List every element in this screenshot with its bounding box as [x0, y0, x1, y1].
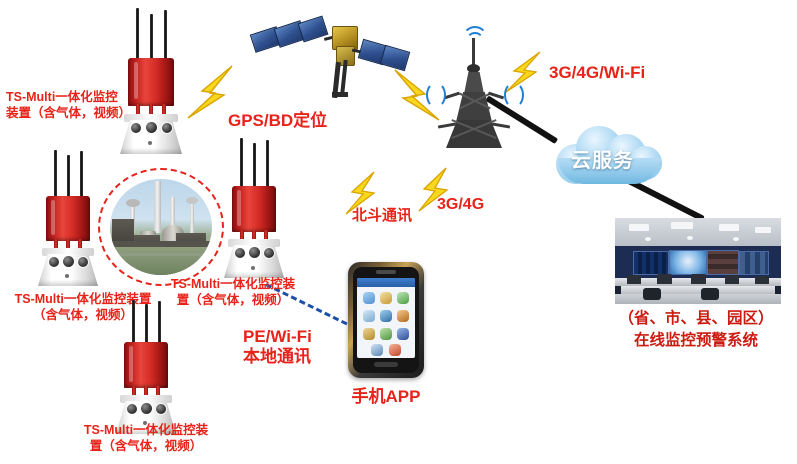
app-icon[interactable]	[380, 292, 392, 304]
sensor-port	[49, 257, 59, 267]
video-wall-screen	[669, 250, 707, 275]
monitoring-device-middle	[218, 138, 288, 284]
app-icon[interactable]	[363, 328, 375, 340]
handheld-pda	[348, 262, 424, 378]
sensor-port	[78, 257, 88, 267]
sensor-port	[63, 256, 74, 267]
cell-tower	[438, 20, 510, 150]
video-wall-screen	[707, 250, 739, 275]
sensor-port	[162, 123, 172, 133]
wifi-icon	[466, 32, 484, 50]
wifi-icon	[426, 82, 446, 108]
device-bottom-label: TS-Multi一体化监控装 置（含气体，视频）	[66, 423, 226, 454]
app-icon[interactable]	[397, 310, 409, 322]
cloud-label: 云服务	[571, 144, 634, 173]
app-icon[interactable]	[389, 344, 401, 356]
control-room	[615, 218, 781, 304]
sensor-port	[131, 123, 141, 133]
wifi-icon	[504, 82, 524, 108]
video-wall-screen	[633, 251, 669, 275]
sensor-port	[141, 403, 152, 414]
control-room-label: （省、市、县、园区） 在线监控预警系统	[596, 308, 796, 353]
beidou-label: 北斗通讯	[352, 207, 412, 226]
pda-screen[interactable]	[357, 278, 415, 358]
video-wall-screen	[739, 251, 769, 275]
pda-label: 手机APP	[336, 386, 436, 407]
sensor-port	[249, 247, 260, 258]
sensor-port	[146, 122, 157, 133]
industrial-plant-inset	[98, 168, 224, 286]
sensor-port	[264, 248, 274, 258]
app-icon[interactable]	[363, 292, 375, 304]
app-icon[interactable]	[363, 310, 375, 322]
local-comm-label: PE/Wi-Fi 本地通讯	[243, 327, 312, 368]
monitoring-device-top	[112, 8, 186, 158]
device-top-label: TS-Multi一体化监控 装置（含气体，视频）	[6, 90, 142, 121]
app-icon[interactable]	[380, 310, 392, 322]
sensor-port	[127, 404, 137, 414]
tower-label: 3G/4G/Wi-Fi	[549, 62, 645, 83]
sensor-port	[156, 404, 166, 414]
app-icon[interactable]	[380, 328, 392, 340]
app-icon[interactable]	[397, 328, 409, 340]
monitoring-device-left	[32, 150, 102, 290]
sensor-port	[235, 248, 245, 258]
diagram-canvas: TS-Multi一体化监控 装置（含气体，视频） TS-Multi一体化监控装置…	[0, 0, 797, 464]
monitoring-device-bottom	[110, 300, 180, 436]
satellite	[248, 12, 378, 104]
app-icon[interactable]	[397, 292, 409, 304]
app-icon[interactable]	[371, 344, 383, 356]
mobile-network-label: 3G/4G	[437, 195, 484, 215]
satellite-label: GPS/BD定位	[228, 110, 327, 131]
